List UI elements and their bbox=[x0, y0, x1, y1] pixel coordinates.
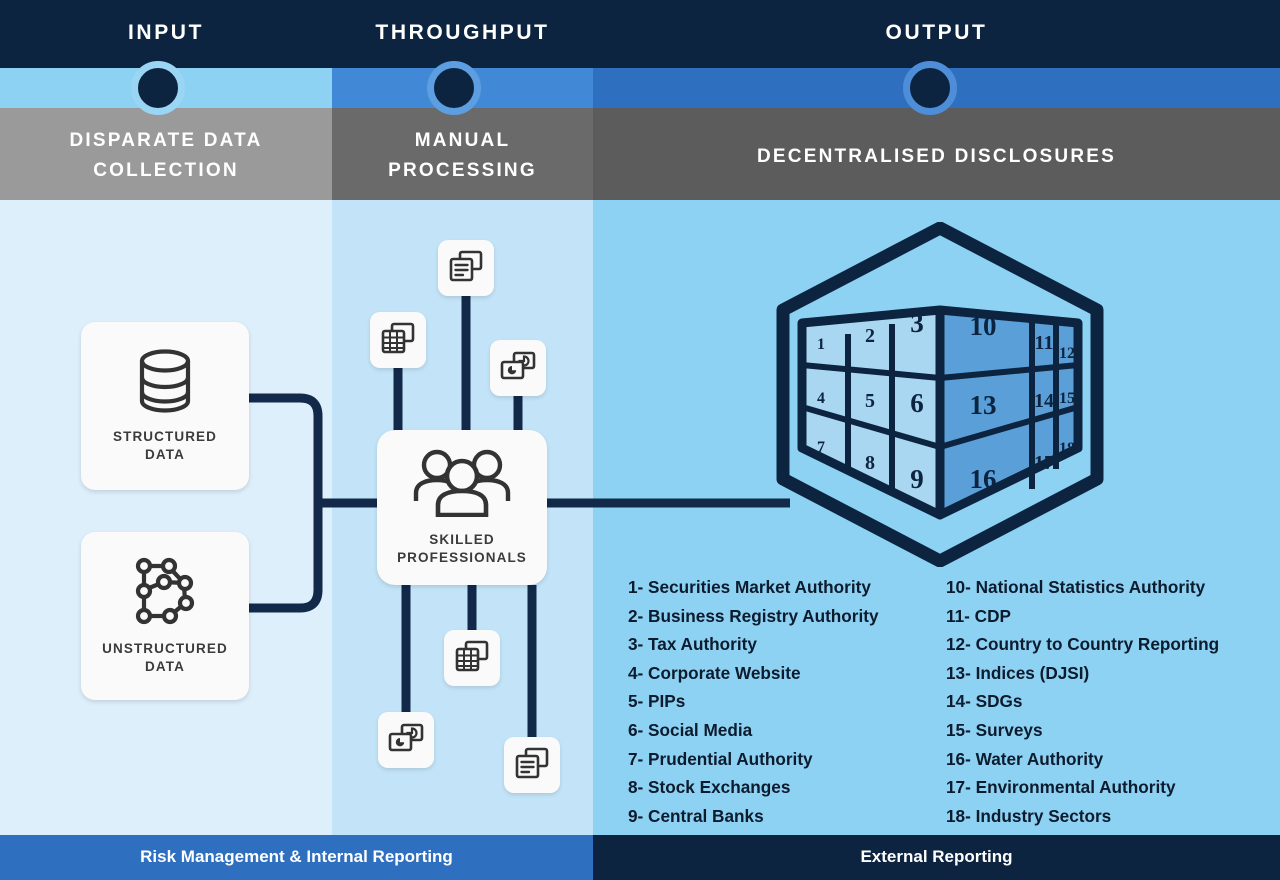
cube-number-10: 10 bbox=[970, 311, 997, 341]
spreadsheet-stack-icon bbox=[381, 322, 415, 359]
cube-number-3: 3 bbox=[910, 308, 924, 338]
legend-item: 8- Stock Exchanges bbox=[628, 773, 948, 802]
card-unstructured-data[interactable]: UNSTRUCTURED DATA bbox=[81, 532, 249, 700]
database-icon bbox=[133, 348, 197, 419]
legend-column-left: 1- Securities Market Authority 2- Busine… bbox=[628, 573, 948, 830]
cube-number-11: 11 bbox=[1035, 332, 1054, 354]
legend-item: 18- Industry Sectors bbox=[946, 802, 1276, 831]
cube-number-17: 17 bbox=[1034, 452, 1054, 474]
cube-number-14: 14 bbox=[1034, 390, 1054, 412]
infographic-canvas: INPUT THROUGHPUT OUTPUT DISPARATE DATACO… bbox=[0, 0, 1280, 880]
card-unstructured-data-label: UNSTRUCTURED DATA bbox=[102, 640, 228, 676]
chart-image-icon bbox=[388, 723, 424, 758]
card-skilled-professionals-label: SKILLED PROFESSIONALS bbox=[397, 531, 527, 567]
legend-item: 14- SDGs bbox=[946, 687, 1276, 716]
documents-stack-icon bbox=[449, 250, 483, 287]
spreadsheet-stack-icon bbox=[455, 640, 489, 677]
cube-number-8: 8 bbox=[865, 452, 875, 474]
legend-item: 17- Environmental Authority bbox=[946, 773, 1276, 802]
card-structured-data-line1: STRUCTURED bbox=[113, 429, 217, 444]
cube-number-7: 7 bbox=[817, 439, 825, 456]
documents-stack-icon bbox=[515, 747, 549, 784]
card-skilled-professionals-line2: PROFESSIONALS bbox=[397, 550, 527, 565]
mini-card-documents-top[interactable] bbox=[438, 240, 494, 296]
legend-item: 1- Securities Market Authority bbox=[628, 573, 948, 602]
legend-column-right: 10- National Statistics Authority 11- CD… bbox=[946, 573, 1276, 830]
card-structured-data-label: STRUCTURED DATA bbox=[113, 428, 217, 464]
card-skilled-professionals-line1: SKILLED bbox=[429, 532, 494, 547]
legend-item: 5- PIPs bbox=[628, 687, 948, 716]
legend-item: 7- Prudential Authority bbox=[628, 745, 948, 774]
footer-label-external: External Reporting bbox=[593, 847, 1280, 867]
card-structured-data-line2: DATA bbox=[145, 447, 185, 462]
mini-card-chart-bottom-left[interactable] bbox=[378, 712, 434, 768]
cube-number-18: 18 bbox=[1059, 440, 1075, 457]
cube-number-1: 1 bbox=[817, 336, 825, 353]
legend-item: 10- National Statistics Authority bbox=[946, 573, 1276, 602]
cube-number-2: 2 bbox=[865, 325, 875, 347]
legend-item: 12- Country to Country Reporting bbox=[946, 630, 1276, 659]
legend-item: 6- Social Media bbox=[628, 716, 948, 745]
cube-number-9: 9 bbox=[910, 464, 924, 494]
legend-item: 2- Business Registry Authority bbox=[628, 602, 948, 631]
legend-item: 11- CDP bbox=[946, 602, 1276, 631]
legend-item: 13- Indices (DJSI) bbox=[946, 659, 1276, 688]
legend-item: 15- Surveys bbox=[946, 716, 1276, 745]
people-group-icon bbox=[413, 449, 511, 522]
cube-number-6: 6 bbox=[910, 388, 924, 418]
disclosure-cube: 1 2 3 4 5 6 7 8 9 10 11 12 13 14 15 16 1… bbox=[770, 222, 1110, 567]
legend-item: 3- Tax Authority bbox=[628, 630, 948, 659]
cube-number-16: 16 bbox=[970, 464, 997, 494]
card-unstructured-data-line1: UNSTRUCTURED bbox=[102, 641, 228, 656]
mini-card-documents-bottom[interactable] bbox=[504, 737, 560, 793]
cube-number-5: 5 bbox=[865, 390, 875, 412]
mini-card-spreadsheet-left[interactable] bbox=[370, 312, 426, 368]
cube-number-13: 13 bbox=[970, 390, 997, 420]
card-unstructured-data-line2: DATA bbox=[145, 659, 185, 674]
card-skilled-professionals[interactable]: SKILLED PROFESSIONALS bbox=[377, 430, 547, 585]
cube-number-4: 4 bbox=[817, 390, 825, 407]
chart-image-icon bbox=[500, 351, 536, 386]
cube-number-12: 12 bbox=[1059, 345, 1075, 362]
legend-item: 9- Central Banks bbox=[628, 802, 948, 831]
footer-label-internal: Risk Management & Internal Reporting bbox=[0, 847, 593, 867]
network-nodes-icon bbox=[128, 556, 202, 631]
card-structured-data[interactable]: STRUCTURED DATA bbox=[81, 322, 249, 490]
legend-item: 4- Corporate Website bbox=[628, 659, 948, 688]
mini-card-chart-right[interactable] bbox=[490, 340, 546, 396]
cube-number-15: 15 bbox=[1059, 390, 1075, 407]
mini-card-spreadsheet-bottom[interactable] bbox=[444, 630, 500, 686]
legend-item: 16- Water Authority bbox=[946, 745, 1276, 774]
